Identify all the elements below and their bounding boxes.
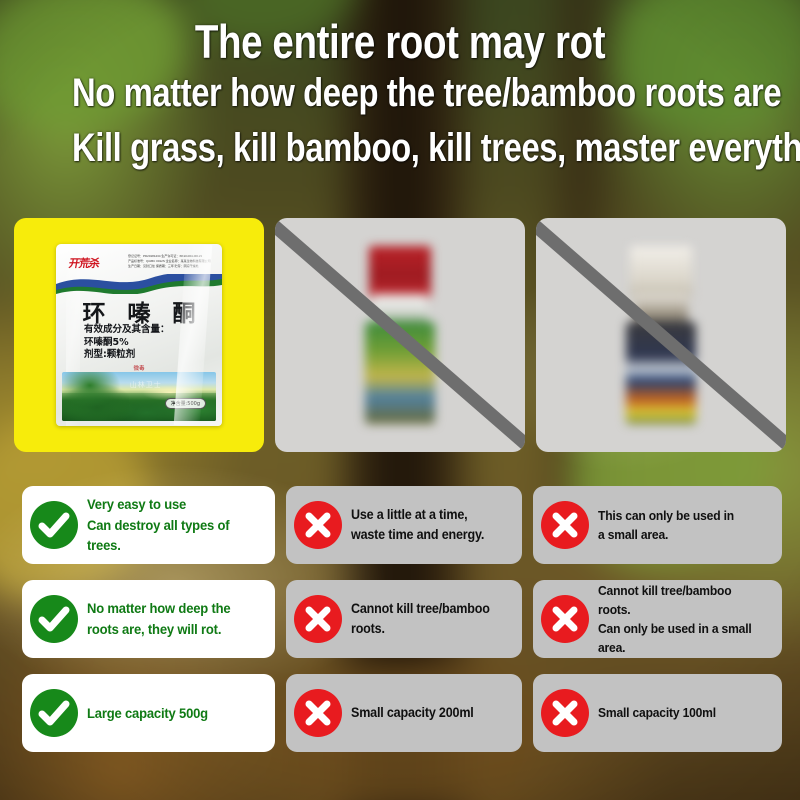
bottle-cap bbox=[630, 246, 692, 298]
promo-poster: The entire root may rot No matter how de… bbox=[0, 0, 800, 800]
photo-watermark: 山林卫士 bbox=[130, 380, 162, 390]
package-product-name: 环 嗪 酮 bbox=[56, 294, 222, 328]
pro-feature-box[interactable]: Large capacity 500g bbox=[22, 674, 275, 752]
comparison-row: Large capacity 500g Small capacity 200ml… bbox=[0, 674, 800, 752]
con-feature-box-2[interactable]: Small capacity 100ml bbox=[533, 674, 782, 752]
con-feature-box-1[interactable]: Small capacity 200ml bbox=[286, 674, 522, 752]
cross-icon bbox=[541, 595, 589, 643]
package-scenery-photo: 山林卫士 净含量:500g bbox=[62, 372, 216, 421]
package-brand-logo: 开荒杀 bbox=[68, 255, 101, 271]
pro-feature-text: No matter how deep the roots are, they w… bbox=[87, 598, 230, 639]
check-icon bbox=[30, 689, 78, 737]
product-package: 开荒杀 登记证号：PD20181234 生产许可证：XK13-004-00123… bbox=[56, 244, 222, 426]
con-feature-text: Cannot kill tree/bamboo roots. bbox=[351, 599, 501, 639]
cross-icon bbox=[294, 501, 342, 549]
featured-product-card[interactable]: 开荒杀 登记证号：PD20181234 生产许可证：XK13-004-00123… bbox=[14, 218, 264, 452]
headline-primary: The entire root may rot bbox=[72, 18, 728, 67]
check-icon bbox=[30, 501, 78, 549]
check-icon bbox=[30, 595, 78, 643]
comparison-row: Very easy to use Can destroy all types o… bbox=[0, 486, 800, 564]
headline-secondary: No matter how deep the tree/bamboo roots… bbox=[72, 73, 728, 115]
con-feature-text: Small capacity 100ml bbox=[598, 703, 716, 722]
feature-comparison-table: Very easy to use Can destroy all types o… bbox=[0, 486, 800, 768]
package-registration-text: 登记证号：PD20181234 生产许可证：XK13-004-00123 产品标… bbox=[128, 254, 214, 269]
bottle-cap bbox=[369, 246, 431, 298]
cross-icon bbox=[294, 689, 342, 737]
con-feature-box-1[interactable]: Cannot kill tree/bamboo roots. bbox=[286, 580, 522, 658]
con-feature-text: Cannot kill tree/bamboo roots. Can only … bbox=[598, 581, 760, 658]
competitor-product-card-2[interactable] bbox=[536, 218, 786, 452]
con-feature-box-1[interactable]: Use a little at a time, waste time and e… bbox=[286, 486, 522, 564]
headline-block: The entire root may rot No matter how de… bbox=[0, 0, 800, 170]
product-comparison-row: 开荒杀 登记证号：PD20181234 生产许可证：XK13-004-00123… bbox=[0, 218, 800, 454]
cross-icon bbox=[541, 689, 589, 737]
pro-feature-box[interactable]: Very easy to use Can destroy all types o… bbox=[22, 486, 275, 564]
con-feature-text: Small capacity 200ml bbox=[351, 703, 474, 723]
cross-icon bbox=[541, 501, 589, 549]
pro-feature-text: Very easy to use Can destroy all types o… bbox=[87, 494, 253, 556]
headline-tertiary: Kill grass, kill bamboo, kill trees, mas… bbox=[72, 128, 728, 170]
package-ingredient-spec: 有效成分及其含量：环嗪酮5%剂型:颗粒剂 bbox=[84, 324, 170, 362]
comparison-row: No matter how deep the roots are, they w… bbox=[0, 580, 800, 658]
cross-icon bbox=[294, 595, 342, 643]
pro-feature-text: Large capacity 500g bbox=[87, 703, 208, 724]
competitor-product-card-1[interactable] bbox=[275, 218, 525, 452]
con-feature-box-2[interactable]: This can only be used in a small area. bbox=[533, 486, 782, 564]
pro-feature-box[interactable]: No matter how deep the roots are, they w… bbox=[22, 580, 275, 658]
con-feature-text: This can only be used in a small area. bbox=[598, 506, 734, 544]
con-feature-text: Use a little at a time, waste time and e… bbox=[351, 505, 484, 545]
photo-foreground-tree bbox=[62, 372, 129, 421]
package-wave-graphic bbox=[56, 274, 222, 294]
package-net-weight: 净含量:500g bbox=[165, 398, 206, 409]
package-toxicity-warning: 微毒 bbox=[56, 364, 222, 372]
con-feature-box-2[interactable]: Cannot kill tree/bamboo roots. Can only … bbox=[533, 580, 782, 658]
